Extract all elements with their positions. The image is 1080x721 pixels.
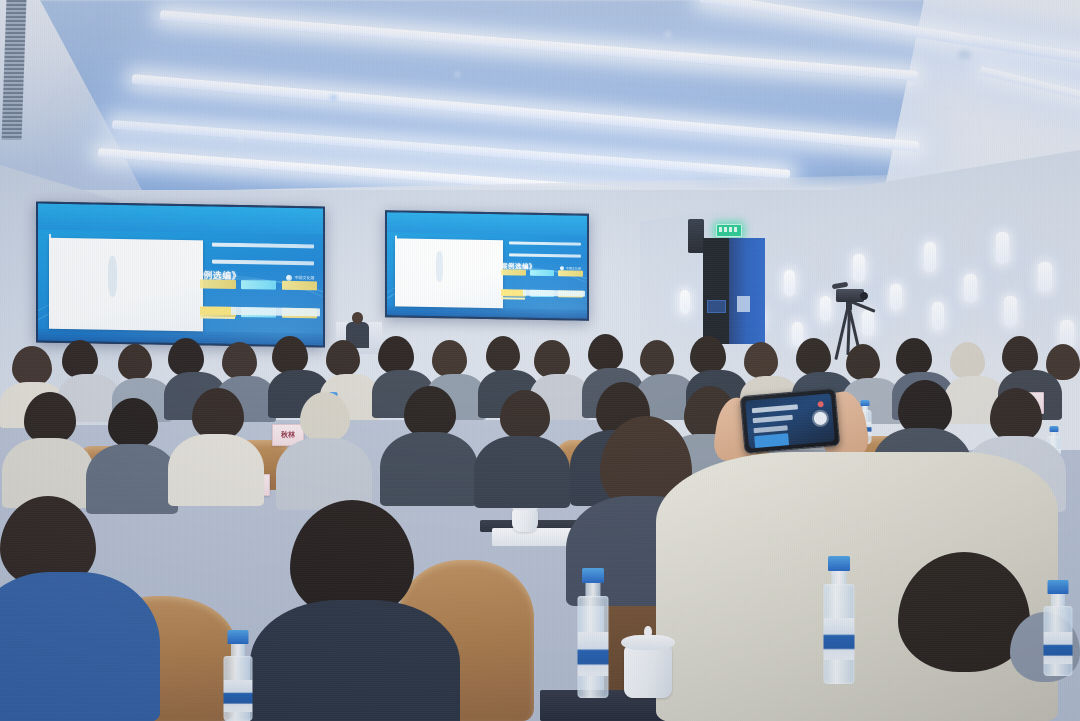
attendee-head: [62, 340, 98, 378]
attendee-head: [12, 346, 52, 386]
water-bottle: [222, 630, 254, 721]
water-bottle: [822, 556, 856, 684]
attendee-head: [404, 386, 456, 438]
attendee-body: [86, 444, 178, 514]
attendee-head: [640, 340, 674, 376]
door-sign: [707, 300, 726, 313]
attendee-head: [326, 340, 360, 376]
slide-canvas: 案例入选《习近平文化思想实践案例选编》 中国文化报: [387, 212, 587, 318]
smartphone-recording[interactable]: [740, 388, 841, 454]
teacup-knob: [644, 626, 652, 637]
slide-keyword: [558, 270, 583, 277]
wall-led-panel: [1038, 262, 1052, 292]
attendee-body: [474, 436, 570, 508]
attendee-head: [744, 342, 778, 378]
phone-screen[interactable]: [745, 393, 835, 448]
attendee-head: [796, 338, 831, 375]
attendee-head: [588, 334, 623, 371]
attendee-head: [690, 336, 726, 374]
bottle-neck: [832, 571, 847, 585]
lidded-teacup: [624, 646, 672, 698]
attendee-head: [1002, 336, 1038, 374]
slide-keyword-row: [200, 279, 317, 290]
bottle-label: [824, 618, 855, 660]
attendee-head: [432, 340, 467, 377]
slide-keyword: [282, 280, 317, 290]
attendee-body: [380, 432, 478, 506]
ceiling-spot: [455, 72, 460, 77]
wall-speaker: [688, 219, 704, 253]
presenter-head: [352, 312, 363, 324]
attendee-body: [168, 434, 264, 506]
attendee-head-bald: [300, 392, 350, 442]
bottle-label: [578, 632, 609, 676]
phone-viewfinder-slide: [754, 433, 789, 448]
attendee-head: [846, 344, 880, 380]
slide-header-band: [38, 204, 323, 235]
slide-body-text: [212, 242, 315, 274]
attendee-head: [272, 336, 308, 374]
attendee-head: [896, 338, 932, 376]
bottle-cap: [828, 556, 850, 571]
attendee-head: [168, 338, 204, 376]
attendee-body-blue: [0, 572, 160, 721]
wall-led-panel: [890, 284, 902, 310]
wall-led-panel: [862, 310, 874, 336]
phone-ui-line: [753, 415, 793, 423]
slide-keyword-group: [200, 279, 317, 303]
conference-hall-photo: EXIT 案例入选《习近平文化思想实践案例选编》 中国文化报: [0, 0, 1080, 721]
wall-led-panel: [932, 302, 944, 330]
ceiling-vent-round: [958, 50, 971, 59]
wall-led-panel: [964, 274, 977, 302]
slide-canvas: 案例入选《习近平文化思想实践案例选编》 中国文化报: [38, 204, 323, 346]
water-bottle: [576, 568, 610, 698]
attendee-head: [990, 388, 1042, 442]
slide-keyword: [501, 269, 526, 276]
attendee-head: [534, 340, 570, 378]
attendee-head: [222, 342, 257, 379]
ceiling-spot: [665, 32, 671, 37]
secondary-projection-screen: 案例入选《习近平文化思想实践案例选编》 中国文化报: [385, 210, 589, 321]
attendee-head-gray: [950, 342, 985, 379]
bottle-cap: [228, 630, 249, 644]
ceiling-blue-panel: [20, 0, 1020, 205]
bottle-neck: [586, 583, 601, 597]
slide-body-line: [212, 259, 315, 265]
main-projection-screen: 案例入选《习近平文化思想实践案例选编》 中国文化报: [36, 201, 325, 347]
ceiling-spot: [330, 95, 337, 100]
slide-photo-placeholder: [395, 238, 503, 308]
slide-body-line: [212, 242, 315, 248]
camera-lens-icon: [860, 292, 868, 300]
record-indicator-icon: [817, 401, 824, 408]
slide-keyword: [241, 280, 276, 290]
attendee-head: [192, 388, 244, 440]
attendee-head: [500, 390, 550, 440]
phone-ui-line: [753, 425, 787, 433]
wall-led-panel: [853, 254, 865, 282]
attendee-head: [486, 336, 520, 372]
attendee-head: [378, 336, 414, 374]
lidded-teacup: [512, 508, 538, 532]
bottle-label: [1044, 632, 1073, 664]
slide-keyword: [200, 279, 235, 289]
slide-body-text: [509, 241, 581, 265]
bottle-label: [224, 680, 253, 712]
door-opening: [703, 238, 729, 344]
attendee-head: [108, 398, 158, 448]
water-bottle: [1042, 580, 1074, 676]
wall-led-panel: [820, 296, 831, 321]
attendee-body: [250, 600, 460, 721]
bottle-cap: [1048, 580, 1069, 594]
attendee-head: [118, 344, 152, 380]
bottle-cap: [582, 568, 604, 583]
attendee-body: [276, 438, 372, 510]
wall-led-panel: [924, 242, 936, 272]
slide-keyword-row: [501, 269, 583, 277]
slide-photo-placeholder: [49, 238, 203, 331]
slide-body-line: [509, 241, 581, 245]
exit-sign-glyph: [719, 227, 737, 232]
ceiling-spot: [238, 137, 242, 141]
slide-body-line: [509, 253, 581, 257]
wall-led-panel: [680, 290, 690, 314]
slide-keyword: [530, 269, 555, 276]
slide-keyword-group: [501, 269, 583, 287]
wall-led-panel: [996, 232, 1009, 264]
slide-header-band: [387, 212, 587, 235]
wall-led-panel: [784, 270, 795, 296]
phone-ui-line: [752, 404, 798, 413]
shutter-button[interactable]: [813, 411, 827, 425]
attendee-head: [24, 392, 76, 444]
door-push-plate: [737, 296, 750, 312]
wall-led-panel: [1004, 296, 1017, 326]
